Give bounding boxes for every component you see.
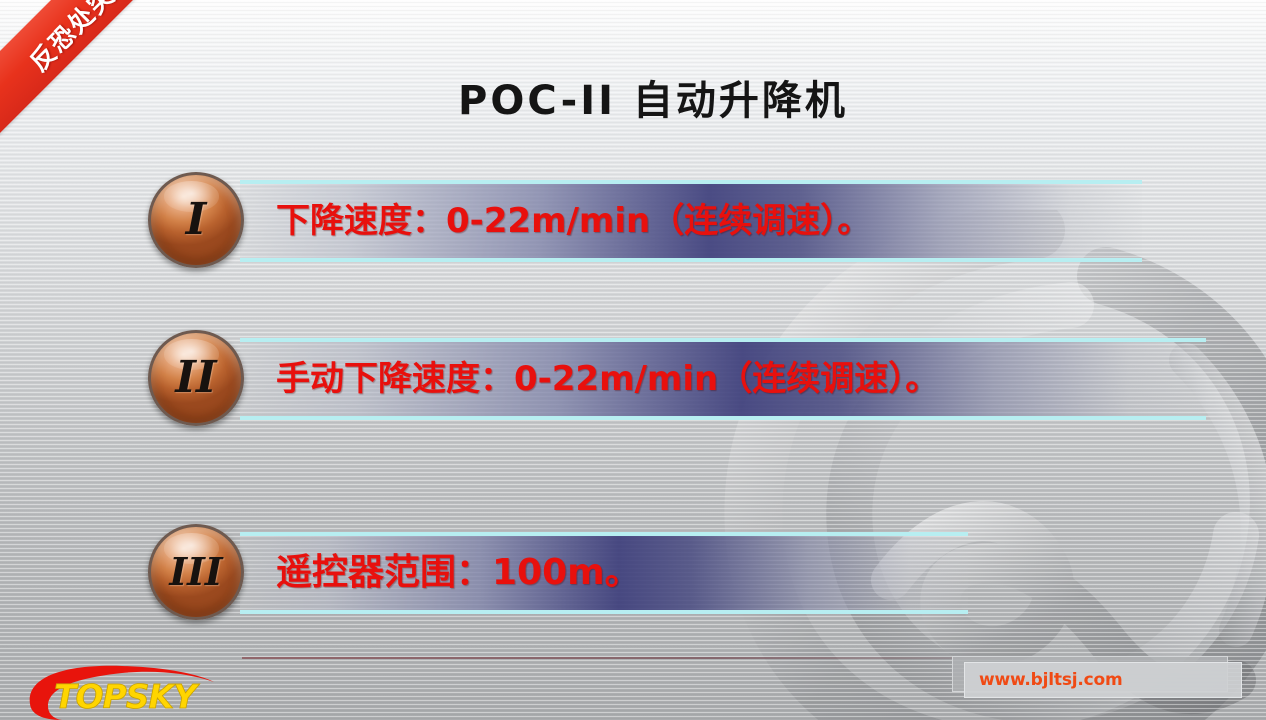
bullet-numeral: I: [186, 198, 207, 242]
bullet-row: III 遥控器范围：100m。: [148, 524, 988, 620]
bullet-numeral: II: [175, 356, 216, 400]
bullet-text-1: 下降速度：0-22m/min（连续调速）。: [276, 180, 871, 262]
page-title: POC-II 自动升降机: [0, 68, 1266, 126]
bullet-text-3: 遥控器范围：100m。: [276, 532, 641, 614]
topsky-logo: TOPSKY: [18, 664, 238, 720]
swirl-watermark-logo: [716, 210, 1266, 720]
slide-canvas: 反恐处突 POC-II 自动升降机 I 下降速度：0-22m/min（连续调速）…: [0, 0, 1266, 720]
website-url-box: www.bjltsj.com: [952, 656, 1242, 698]
svg-text:TOPSKY: TOPSKY: [54, 677, 200, 716]
url-box-front-layer: www.bjltsj.com: [964, 662, 1242, 698]
bullet-badge-1: I: [148, 172, 244, 268]
bullet-row: II 手动下降速度：0-22m/min（连续调速）。: [148, 330, 1208, 426]
website-url-text[interactable]: www.bjltsj.com: [965, 670, 1123, 690]
bullet-row: I 下降速度：0-22m/min（连续调速）。: [148, 172, 1148, 268]
bullet-badge-2: II: [148, 330, 244, 426]
bullet-text-2: 手动下降速度：0-22m/min（连续调速）。: [276, 338, 939, 420]
bullet-numeral: III: [169, 553, 222, 591]
bullet-badge-3: III: [148, 524, 244, 620]
